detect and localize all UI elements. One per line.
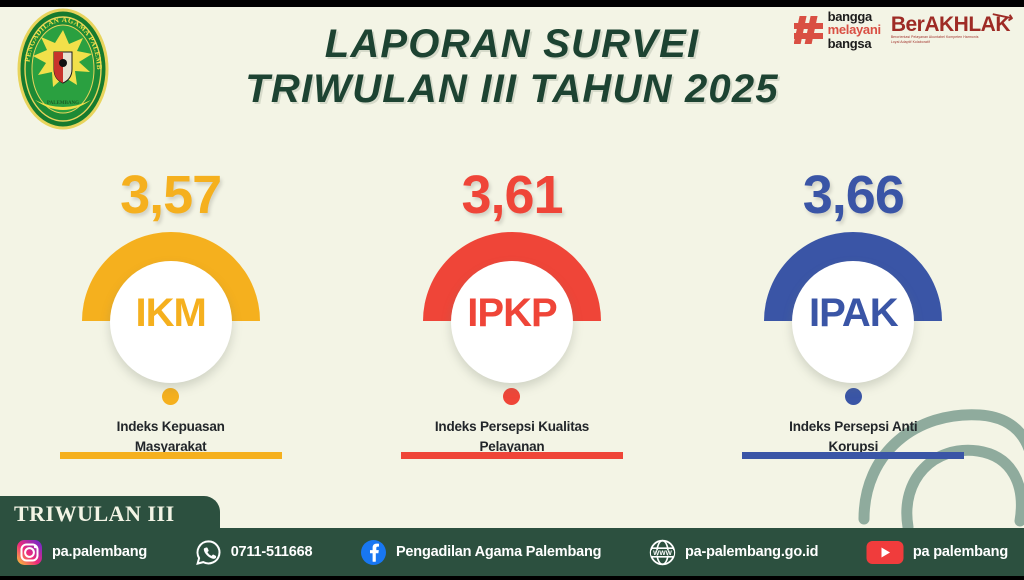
caption-line-1: Indeks Persepsi Anti xyxy=(683,417,1024,437)
metric-value-ikm: 3,57 xyxy=(0,168,341,222)
facebook-icon[interactable] xyxy=(360,539,387,566)
bangga-line-1: bangga xyxy=(828,10,881,23)
contact-youtube[interactable]: pa palembang xyxy=(866,539,1008,566)
metric-ipak: 3,66 IPAK Indeks Persepsi Anti Korupsi xyxy=(683,168,1024,456)
contact-instagram[interactable]: pa.palembang xyxy=(16,539,147,566)
bangga-line-3: bangsa xyxy=(828,37,881,50)
metric-rule-ikm xyxy=(60,452,282,459)
letterbox-bottom xyxy=(0,576,1024,580)
gauge-ikm: IKM xyxy=(82,232,260,382)
hash-mark-icon xyxy=(794,14,824,46)
survey-infographic-poster: PALEMBANG PENGADILAN AGAMA PALEMBANG ban… xyxy=(0,0,1024,580)
metrics-row: 3,57 IKM Indeks Kepuasan Masyarakat 3,61… xyxy=(0,168,1024,456)
metric-rule-ipkp xyxy=(401,452,623,459)
contact-whatsapp-text: 0711-511668 xyxy=(231,544,313,560)
metric-ikm: 3,57 IKM Indeks Kepuasan Masyarakat xyxy=(0,168,341,456)
metric-dot-ipkp xyxy=(503,388,520,405)
caption-line-1: Indeks Persepsi Kualitas xyxy=(341,417,682,437)
gauge-ipkp: IPKP xyxy=(423,232,601,382)
metric-value-ipak: 3,66 xyxy=(683,168,1024,222)
partner-logos: bangga melayani bangsa ⟶ BerAKHLAK Beror… xyxy=(794,10,1010,50)
gauge-label-ipak: IPAK xyxy=(764,293,942,333)
caption-line-1: Indeks Kepuasan xyxy=(0,417,341,437)
gauge-label-ikm: IKM xyxy=(82,293,260,333)
contact-whatsapp[interactable]: 0711-511668 xyxy=(195,539,313,566)
contact-website[interactable]: WWW pa-palembang.go.id xyxy=(649,539,818,566)
metric-caption-ikm: Indeks Kepuasan Masyarakat xyxy=(0,417,341,456)
footer-tab-label: TRIWULAN III xyxy=(0,501,175,527)
title-line-2: TRIWULAN III TAHUN 2025 xyxy=(0,67,1024,112)
gauge-ipak: IPAK xyxy=(764,232,942,382)
instagram-icon[interactable] xyxy=(16,539,43,566)
metric-ipkp: 3,61 IPKP Indeks Persepsi Kualitas Pelay… xyxy=(341,168,682,456)
berakhlak-logo: ⟶ BerAKHLAK Berorientasi Pelayanan Akunt… xyxy=(891,14,1010,45)
contact-facebook-text: Pengadilan Agama Palembang xyxy=(396,544,601,560)
contact-facebook[interactable]: Pengadilan Agama Palembang xyxy=(360,539,601,566)
letterbox-top xyxy=(0,0,1024,7)
contact-instagram-text: pa.palembang xyxy=(52,544,147,560)
www-globe-icon[interactable]: WWW xyxy=(649,539,676,566)
contact-website-text: pa-palembang.go.id xyxy=(685,544,818,560)
metric-caption-ipkp: Indeks Persepsi Kualitas Pelayanan xyxy=(341,417,682,456)
bangga-line-2: melayani xyxy=(828,23,881,36)
metric-dot-ikm xyxy=(162,388,179,405)
metric-caption-ipak: Indeks Persepsi Anti Korupsi xyxy=(683,417,1024,456)
contact-youtube-text: pa palembang xyxy=(913,544,1008,560)
whatsapp-icon[interactable] xyxy=(195,539,222,566)
metric-value-ipkp: 3,61 xyxy=(341,168,682,222)
footer-contact-bar: pa.palembang 0711-511668 Pengadilan Agam… xyxy=(0,528,1024,576)
youtube-icon[interactable] xyxy=(866,539,904,566)
gauge-label-ipkp: IPKP xyxy=(423,293,601,333)
svg-text:WWW: WWW xyxy=(653,549,672,556)
metric-dot-ipak xyxy=(845,388,862,405)
metric-rule-ipak xyxy=(742,452,964,459)
berakhlak-subtitle: Berorientasi Pelayanan Akuntabel Kompete… xyxy=(891,35,987,45)
bangga-melayani-bangsa-logo: bangga melayani bangsa xyxy=(794,10,881,50)
footer-quarter-tab: TRIWULAN III xyxy=(0,496,220,532)
